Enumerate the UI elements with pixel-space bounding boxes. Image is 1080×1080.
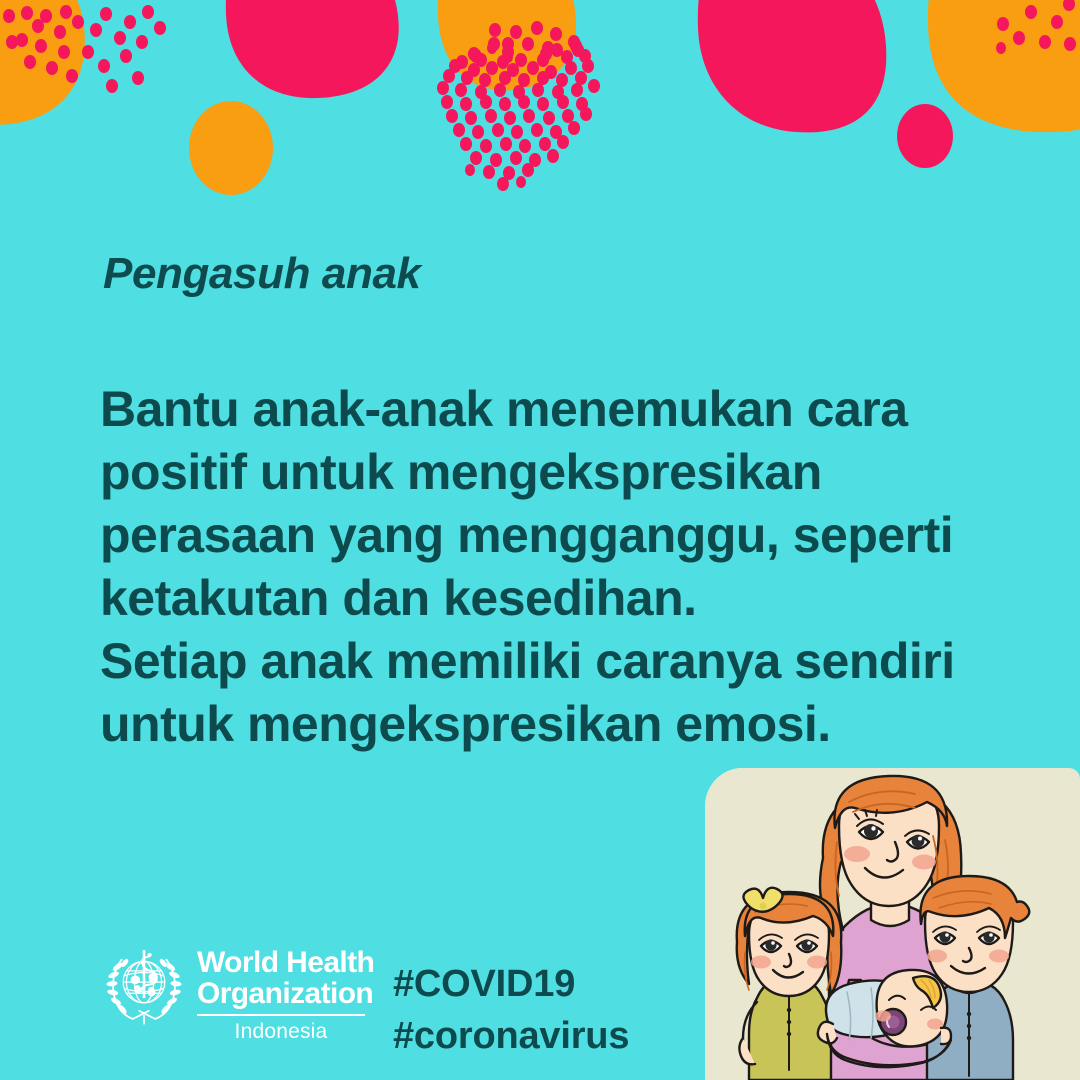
dot-cluster-left (3, 5, 166, 93)
who-divider (197, 1014, 365, 1016)
body-line: perasaan yang mengganggu, seperti (100, 504, 980, 567)
hashtag-covid19: #COVID19 (393, 958, 629, 1010)
who-country-label: Indonesia (197, 1020, 365, 1043)
orange-blob-top-left (0, 0, 85, 125)
who-emblem-icon (104, 942, 184, 1027)
body-line: untuk mengekspresikan emosi. (100, 693, 980, 756)
orange-blob-top-center (438, 0, 576, 90)
who-line-1: World Health (197, 947, 374, 978)
body-line: Setiap anak memiliki caranya sendiri (100, 630, 980, 693)
mother-blush-left (844, 846, 870, 862)
girl-blush-right (807, 956, 827, 969)
who-wordmark: World Health Organization Indonesia (197, 942, 374, 1043)
pink-dot-small-right (897, 104, 953, 168)
dot-cluster-center (437, 21, 600, 191)
pink-blob-top-center (226, 0, 399, 98)
orange-blob-top-far-right (928, 0, 1080, 132)
mother-blush-right (912, 855, 936, 870)
body-line: ketakutan dan kesedihan. (100, 567, 980, 630)
orange-blob-left-small (189, 101, 273, 195)
decorative-header-shapes (0, 0, 1080, 230)
who-logo: World Health Organization Indonesia (104, 942, 374, 1043)
baby-blush-left (875, 1011, 891, 1022)
body-line: positif untuk mengekspresikan (100, 441, 980, 504)
body-copy: Bantu anak-anak menemukan cara positif u… (100, 378, 980, 756)
girl-blush-left (751, 956, 771, 969)
hashtag-block: #COVID19 #coronavirus (393, 958, 629, 1062)
pink-blob-top-right (698, 0, 886, 132)
hashtag-coronavirus: #coronavirus (393, 1010, 629, 1062)
dot-cluster-right (996, 0, 1076, 54)
boy-blush-right (989, 950, 1009, 963)
poster-canvas: Pengasuh anak Bantu anak-anak menemukan … (0, 0, 1080, 1080)
body-line: Bantu anak-anak menemukan cara (100, 378, 980, 441)
who-line-2: Organization (197, 978, 374, 1009)
page-eyebrow-title: Pengasuh anak (103, 249, 421, 299)
family-illustration (699, 766, 1080, 1080)
boy-blush-left (927, 950, 947, 963)
